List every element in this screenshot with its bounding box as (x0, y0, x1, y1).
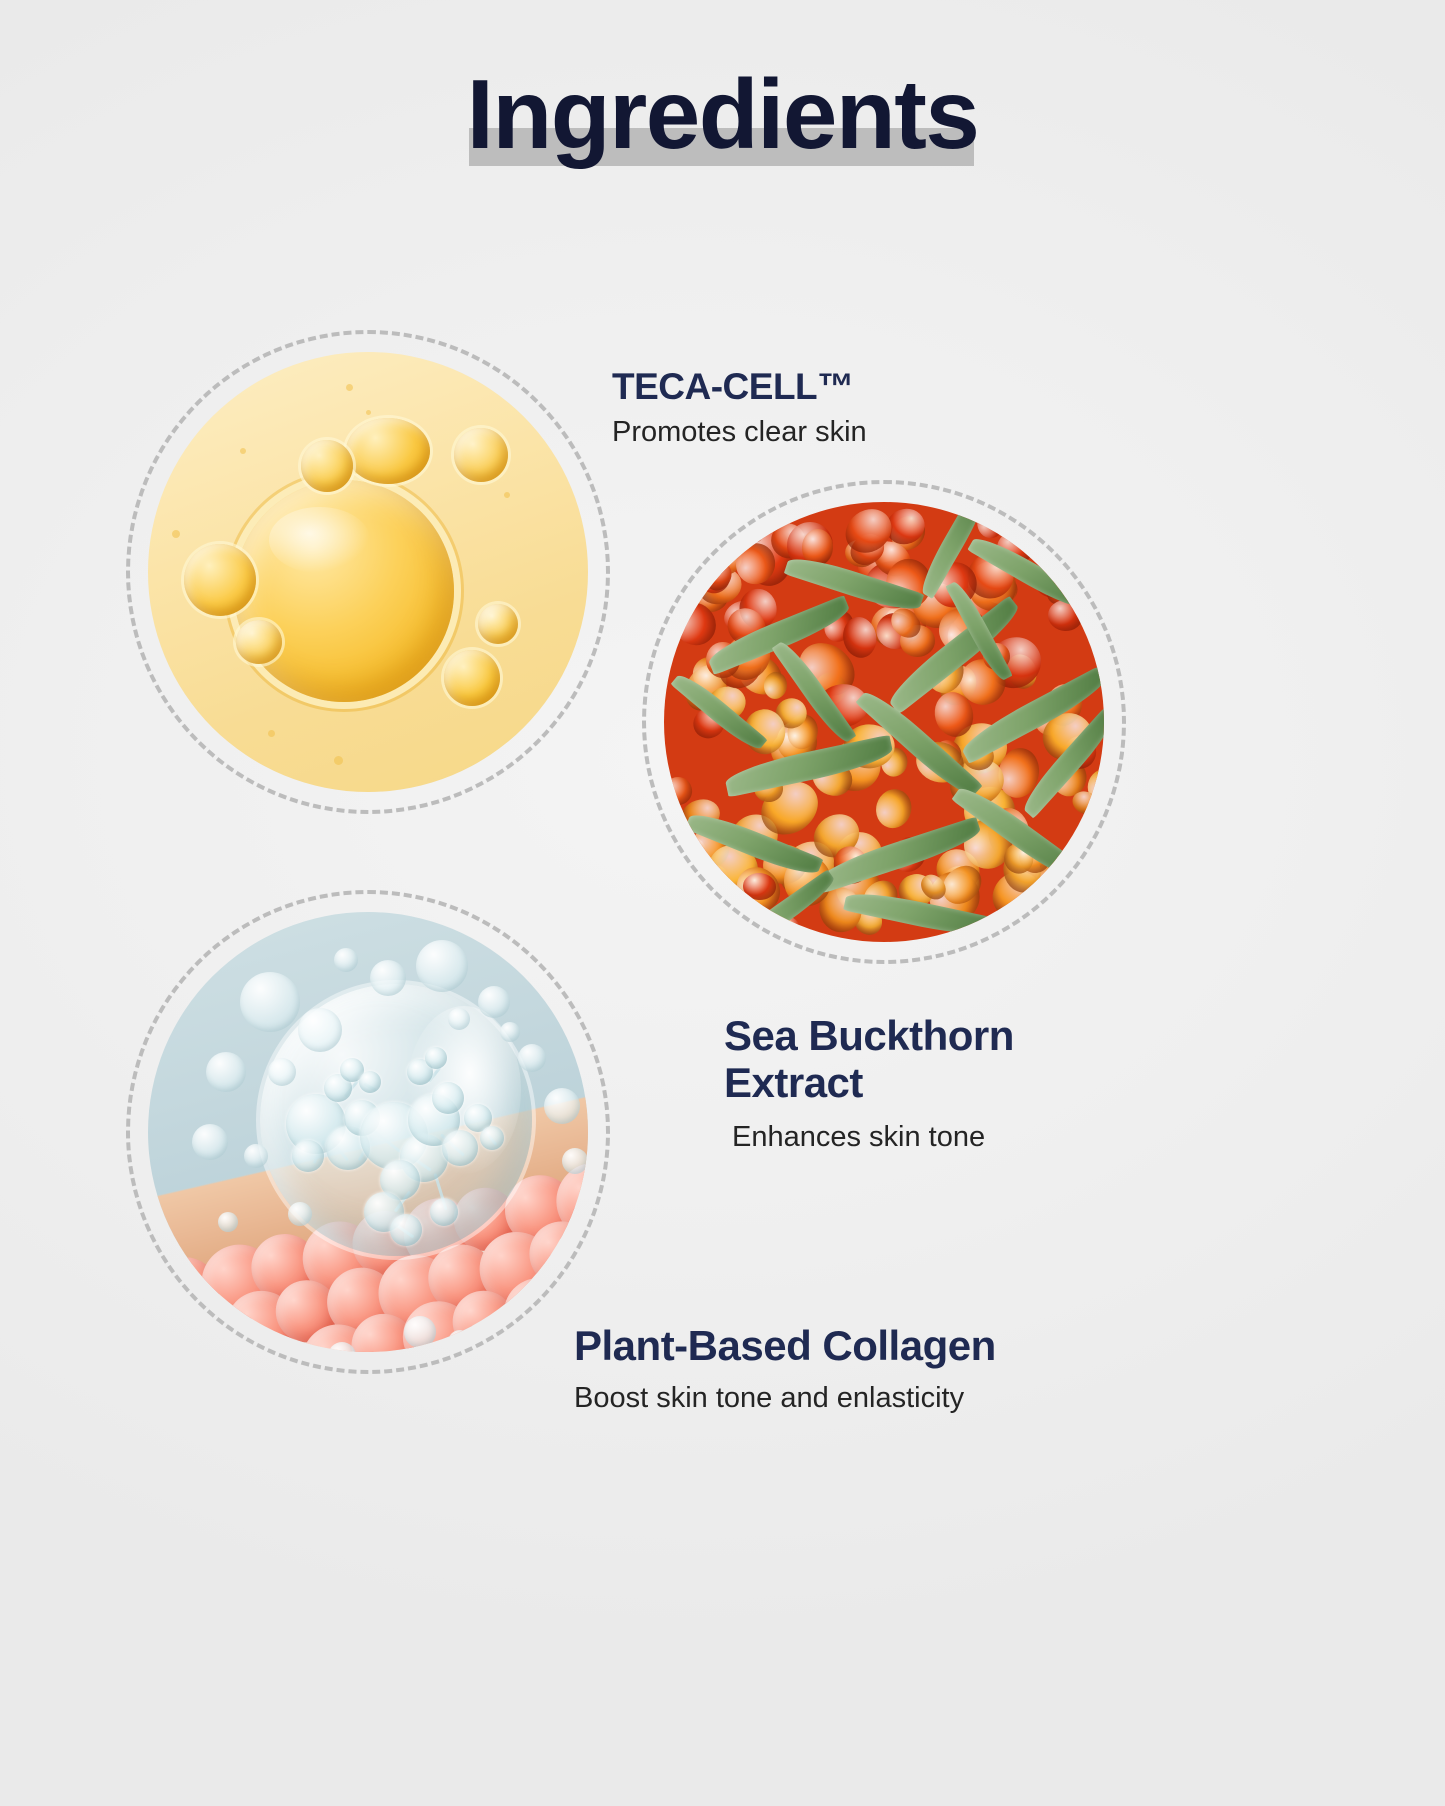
ingredient-name-plant-collagen: Plant-Based Collagen (574, 1322, 1094, 1369)
oil-bubble-right (478, 604, 518, 644)
ingredient-benefit-plant-collagen: Boost skin tone and enlasticity (574, 1381, 1094, 1416)
ingredients-page: Ingredients TECA-CELL™ Promo (0, 0, 1445, 1806)
ingredient-name-sea-buckthorn: Sea Buckthorn Extract (724, 1012, 1144, 1106)
oil-bubble-bottomright (444, 650, 500, 706)
ingredient-text-sea-buckthorn: Sea Buckthorn Extract Enhances skin tone (724, 1012, 1144, 1155)
oil-bubble-topleft (301, 440, 353, 492)
ingredient-benefit-teca-cell: Promotes clear skin (612, 415, 1032, 450)
oil-bubble-bottomleft (236, 620, 282, 664)
page-title-wrapper: Ingredients (0, 62, 1445, 168)
ingredient-name-teca-cell: TECA-CELL™ (612, 366, 1032, 407)
sea-buckthorn-berries-image (664, 502, 1104, 942)
oil-bubble-left (184, 544, 256, 616)
ingredient-text-plant-collagen: Plant-Based Collagen Boost skin tone and… (574, 1322, 1094, 1416)
oil-bubble-top (346, 418, 430, 484)
oil-bubble-main (234, 480, 454, 702)
page-title: Ingredients (467, 59, 979, 169)
berry-cluster (664, 502, 1104, 942)
golden-oil-droplet-image (148, 352, 588, 792)
oil-bubble-topright (454, 428, 508, 482)
collagen-gel-skin-layer-image (148, 912, 588, 1352)
ingredient-text-teca-cell: TECA-CELL™ Promotes clear skin (612, 366, 1032, 450)
ingredient-benefit-sea-buckthorn: Enhances skin tone (724, 1120, 1144, 1155)
page-title-inner: Ingredients (463, 62, 983, 168)
water-bubbles (148, 912, 588, 1352)
